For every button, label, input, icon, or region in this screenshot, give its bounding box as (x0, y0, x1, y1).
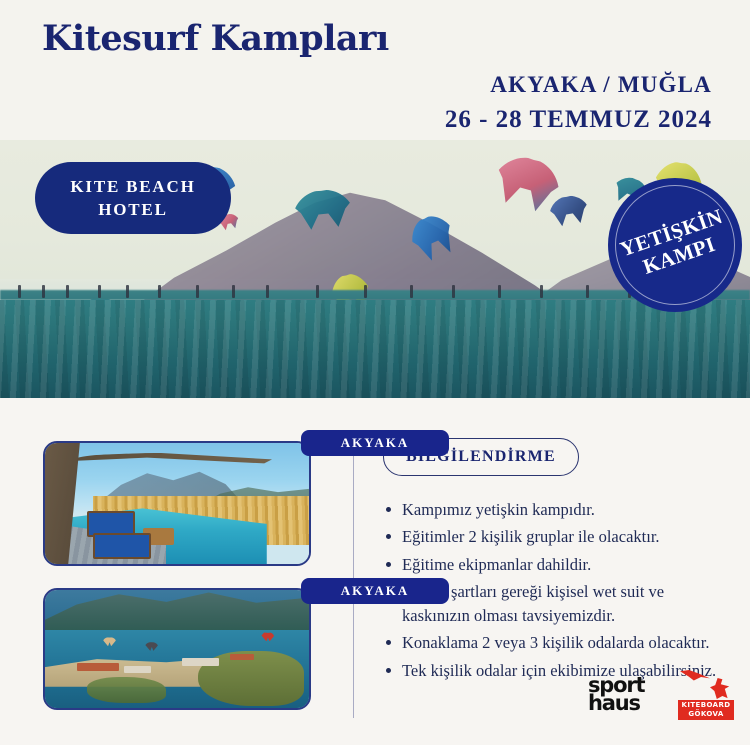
rider-icon (710, 678, 730, 699)
kiteboard-logo-text: KITEBOARD GÖKOVA (678, 700, 734, 720)
stamp-label: YETİŞKİN KAMPI (617, 205, 733, 284)
header-date: 26 - 28 TEMMUZ 2024 (445, 106, 712, 134)
list-item: Eğitime ekipmanlar dahildir. (385, 553, 725, 576)
page-title: Kitesurf Kampları (42, 18, 389, 59)
header-location: AKYAKA / MUĞLA (490, 72, 712, 98)
scene-building-roof (77, 663, 119, 671)
sporthaus-logo: sport haus (588, 676, 668, 712)
kiteboard-logo-line1: KITEBOARD (680, 701, 732, 710)
scene-building (182, 658, 219, 665)
sporthaus-logo-line2: haus (588, 694, 668, 712)
poster-header: Kitesurf Kampları AKYAKA / MUĞLA 26 - 28… (0, 0, 750, 140)
photo-card-akyaka-river (43, 441, 311, 566)
scene-building-roof (230, 654, 254, 660)
lower-section: AKYAKA AKYAKA BİLGİLENDİRME Kampımız yet… (0, 398, 750, 745)
scene-tree-branch (77, 453, 272, 468)
photo-card-akyaka-bay (43, 588, 311, 710)
kiteboard-logo-line2: GÖKOVA (680, 710, 732, 719)
kiteboard-gokova-logo: KITEBOARD GÖKOVA (678, 670, 734, 720)
river-scene (45, 443, 309, 564)
photo-label-akyaka-1: AKYAKA (301, 430, 449, 456)
list-item: Tek kişilik odalar için ekibimize ulaşab… (385, 659, 725, 682)
hotel-badge: KITE BEACH HOTEL (35, 162, 231, 234)
sea-water (0, 300, 750, 398)
scene-chair (93, 533, 151, 560)
scene-mountain-ridge (45, 590, 309, 632)
kite-icon (680, 670, 710, 686)
adult-camp-stamp: YETİŞKİN KAMPI (608, 178, 742, 312)
scene-building (124, 666, 150, 673)
kitesurfer-icon (678, 670, 734, 700)
bay-scene (45, 590, 309, 708)
photo-label-akyaka-2: AKYAKA (301, 578, 449, 604)
list-item: Eğitimler 2 kişilik gruplar ile olacaktı… (385, 525, 725, 548)
column-divider (353, 435, 354, 718)
list-item: Kampımız yetişkin kampıdır. (385, 498, 725, 521)
list-item: Konaklama 2 veya 3 kişilik odalarda olac… (385, 631, 725, 654)
scene-vegetation (87, 677, 166, 703)
